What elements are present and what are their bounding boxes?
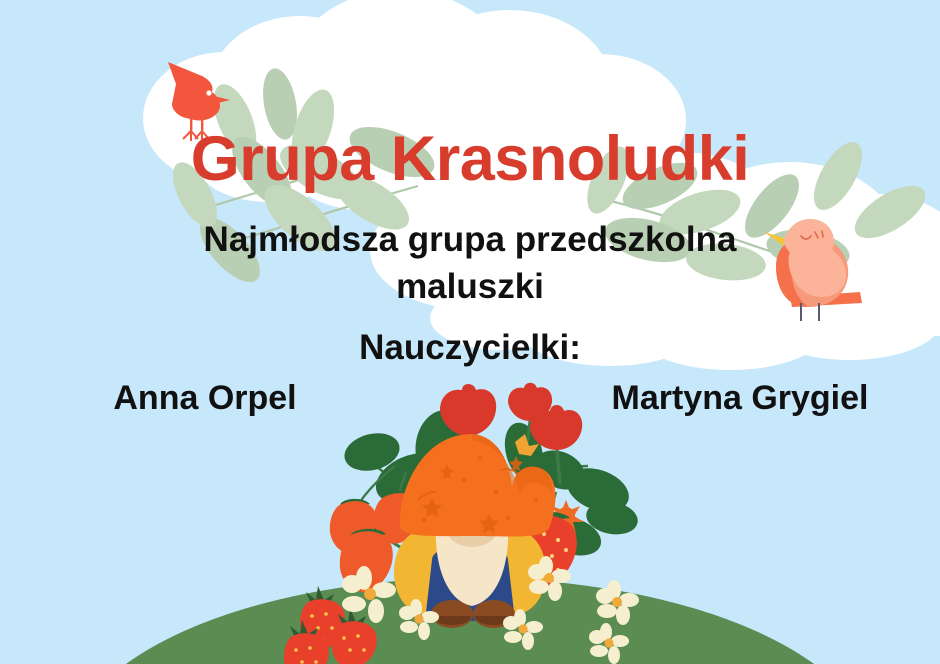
- teacher-name-1: Anna Orpel: [40, 381, 370, 415]
- subtitle-line-2: maluszki: [0, 269, 940, 304]
- subtitle-line-1: Najmłodsza grupa przedszkolna: [0, 222, 940, 257]
- poster-canvas: Grupa Krasnoludki Najmłodsza grupa przed…: [0, 0, 940, 664]
- teachers-label: Nauczycielki:: [0, 330, 940, 365]
- teacher-name-2: Martyna Grygiel: [560, 381, 920, 415]
- page-title: Grupa Krasnoludki: [0, 128, 940, 191]
